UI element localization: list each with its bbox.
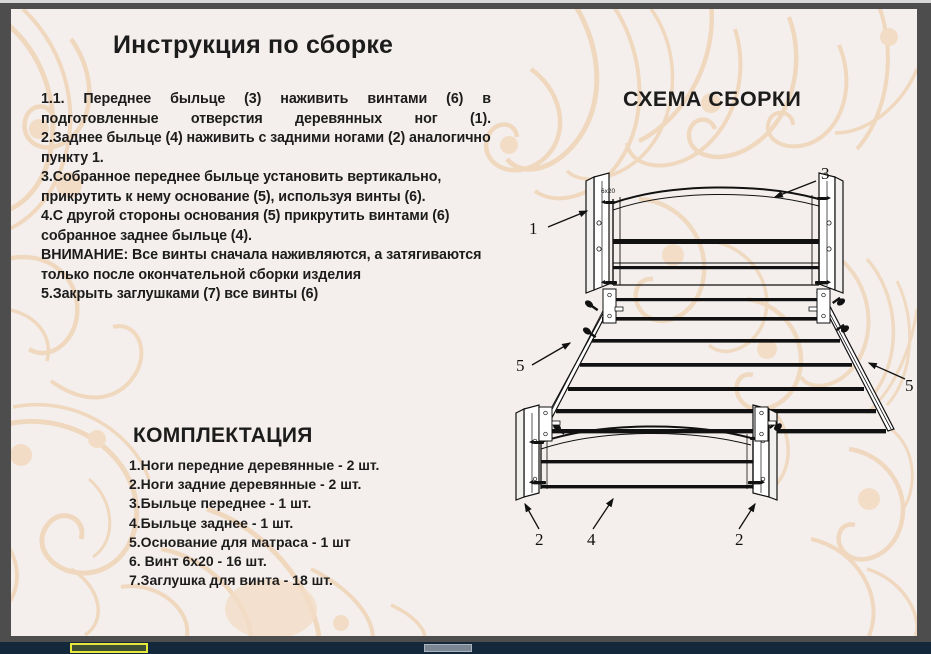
list-item: 4.Быльце заднее - 1 шт.	[129, 514, 461, 533]
callout-leg-front: 1	[529, 211, 587, 238]
kit-title: КОМПЛЕКТАЦИЯ	[41, 424, 461, 448]
instruction-step-4: 4.С другой стороны основания (5) прикрут…	[41, 207, 491, 246]
bracket-top-right	[809, 289, 850, 334]
callout-label-2-right: 2	[735, 530, 744, 549]
callout-label-5-right: 5	[905, 376, 914, 395]
footboard-panel	[541, 426, 753, 489]
list-item: 6. Винт 6х20 - 16 шт.	[129, 552, 461, 571]
instruction-step-1: 1.1. Переднее быльце (3) наживить винтам…	[41, 90, 491, 129]
mattress-base	[539, 293, 894, 433]
instructions-column: Инструкция по сборке 1.1. Переднее быльц…	[41, 31, 491, 305]
callout-label-5-left: 5	[516, 356, 525, 375]
leg-front-right	[819, 173, 843, 293]
callout-leg-rear-left: 2	[525, 504, 544, 549]
scheme-title: СХЕМА СБОРКИ	[623, 87, 801, 112]
taskbar-item-second[interactable]	[424, 644, 472, 652]
list-item: 7.Заглушка для винта - 18 шт.	[129, 571, 461, 590]
screen: Инструкция по сборке 1.1. Переднее быльц…	[0, 0, 931, 654]
callout-label-3: 3	[821, 164, 830, 183]
callout-label-2-left: 2	[535, 530, 544, 549]
taskbar[interactable]	[0, 642, 931, 654]
assembly-diagram: 6x20 1 3	[501, 159, 917, 559]
callout-base-right: 5	[869, 363, 914, 395]
list-item: 1.Ноги передние деревянные - 2 шт.	[129, 456, 461, 475]
slide-canvas: Инструкция по сборке 1.1. Переднее быльц…	[11, 9, 917, 636]
callout-leg-rear-right: 2	[735, 504, 755, 549]
page-title: Инструкция по сборке	[41, 31, 491, 60]
screw-spec-label: 6x20	[601, 188, 615, 195]
headboard-panel	[613, 187, 819, 285]
list-item: 2.Ноги задние деревянные - 2 шт.	[129, 475, 461, 494]
taskbar-item-active[interactable]	[70, 643, 148, 653]
instruction-warning: ВНИМАНИЕ: Все винты сначала наживляются,…	[41, 246, 491, 285]
callout-label-4: 4	[587, 530, 596, 549]
list-item: 3.Быльце переднее - 1 шт.	[129, 494, 461, 513]
leg-rear-left	[516, 405, 539, 500]
instruction-step-3: 3.Собранное переднее быльце установить в…	[41, 168, 491, 207]
list-item: 5.Основание для матраса - 1 шт	[129, 533, 461, 552]
kit-section: КОМПЛЕКТАЦИЯ 1.Ноги передние деревянные …	[41, 424, 461, 590]
kit-list: 1.Ноги передние деревянные - 2 шт. 2.Ног…	[41, 456, 461, 590]
instruction-step-5: 5.Закрыть заглушками (7) все винты (6)	[41, 285, 491, 305]
callout-base-left: 5	[516, 343, 570, 375]
instruction-step-2: 2.Заднее быльце (4) наживить с задними н…	[41, 129, 491, 168]
callout-label-1: 1	[529, 219, 538, 238]
callout-footboard: 4	[587, 499, 613, 549]
instructions-body: 1.1. Переднее быльце (3) наживить винтам…	[41, 90, 491, 305]
